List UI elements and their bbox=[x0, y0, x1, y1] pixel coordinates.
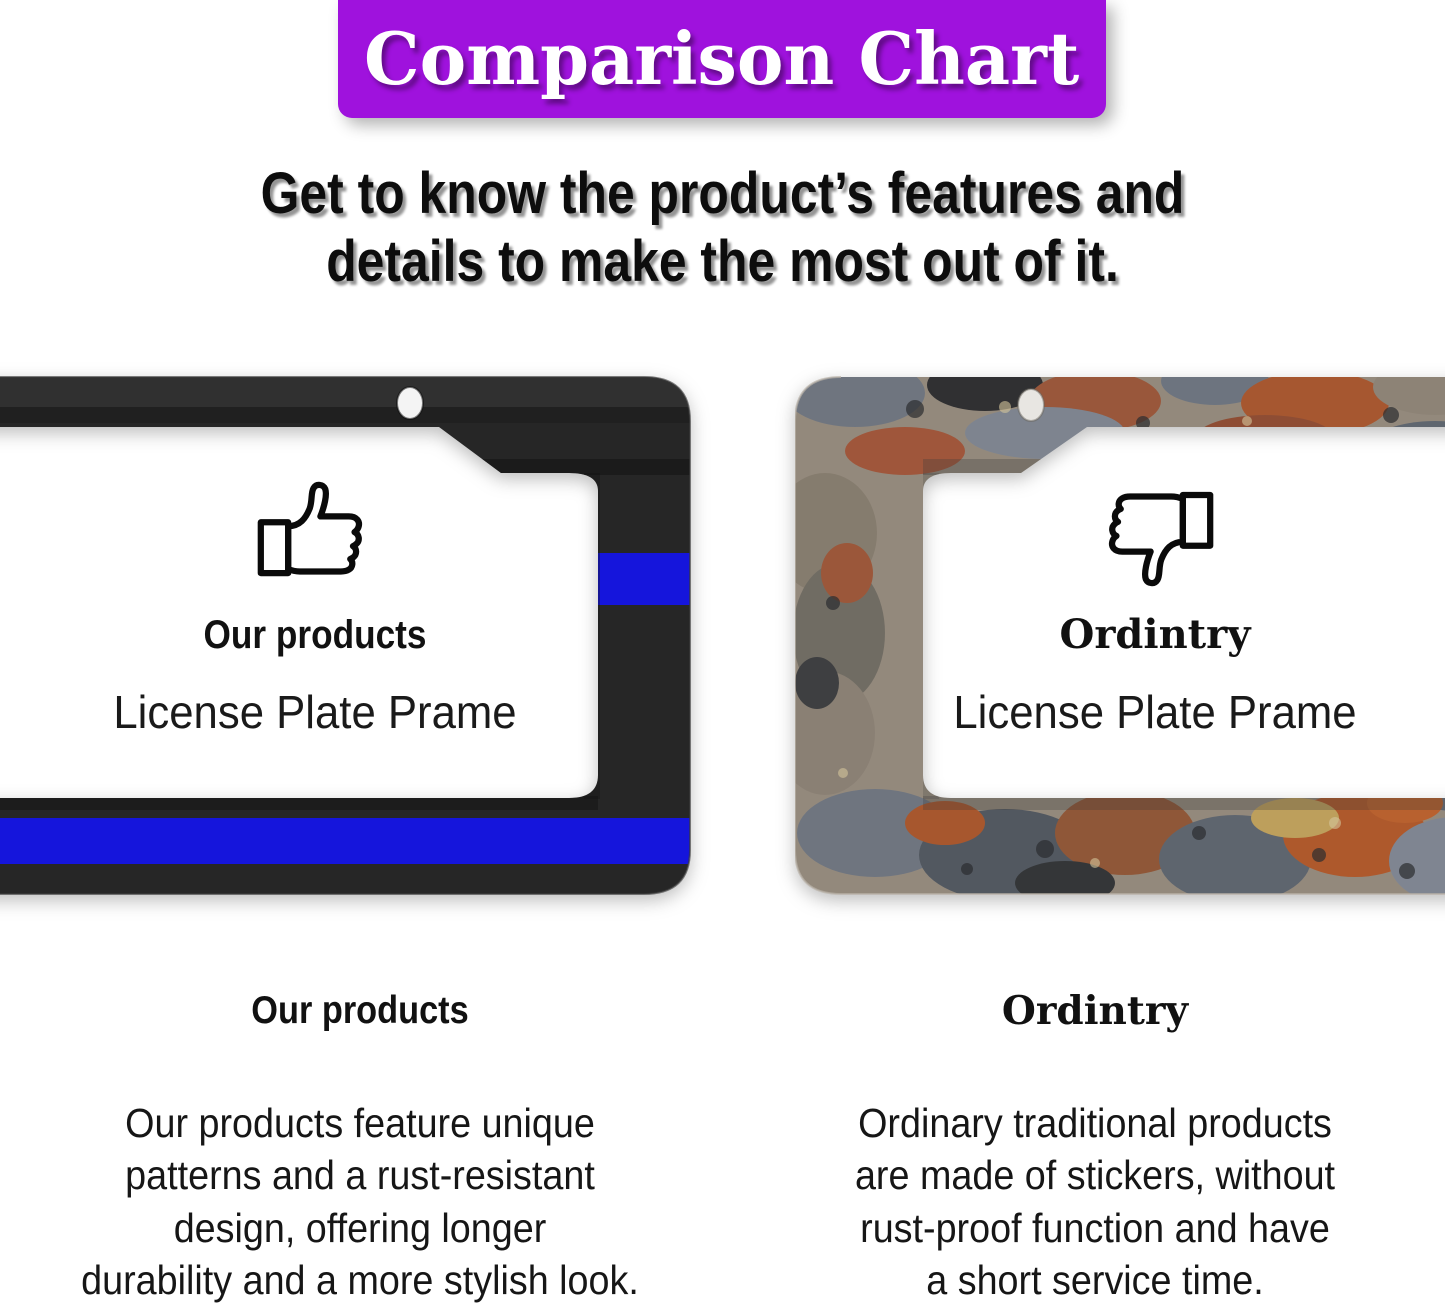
blue-stripe-bottom bbox=[0, 818, 692, 864]
description-line: rust-proof function and have bbox=[773, 1202, 1417, 1254]
frame-body bbox=[0, 363, 692, 908]
page-title: Comparison Chart bbox=[364, 23, 1079, 95]
subtitle-line-2: details to make the most out of it. bbox=[101, 228, 1344, 296]
description-heading-ordintry: Ordintry bbox=[745, 990, 1445, 1033]
license-plate-frame-black bbox=[0, 363, 692, 908]
description-line: Our products feature unique bbox=[38, 1097, 682, 1149]
blue-stripe-side bbox=[598, 553, 692, 605]
subtitle: Get to know the product’s features and d… bbox=[101, 160, 1344, 297]
description-line: a short service time. bbox=[773, 1254, 1417, 1306]
product-image-our-products bbox=[0, 363, 692, 908]
description-body-ordintry: Ordinary traditional products are made o… bbox=[773, 1097, 1417, 1307]
description-row: Our products Our products feature unique… bbox=[0, 990, 1445, 1314]
subtitle-line-1: Get to know the product’s features and bbox=[101, 160, 1344, 228]
description-body-our-products: Our products feature unique patterns and… bbox=[38, 1097, 682, 1307]
frame-body bbox=[795, 363, 1445, 908]
header: Comparison Chart Get to know the product… bbox=[0, 0, 1445, 300]
license-plate-frame-rusted bbox=[795, 363, 1445, 908]
description-line: durability and a more stylish look. bbox=[38, 1254, 682, 1306]
description-line: design, offering longer bbox=[38, 1202, 682, 1254]
description-column-ordintry: Ordintry Ordinary traditional products a… bbox=[745, 990, 1445, 1307]
product-image-ordintry bbox=[795, 363, 1445, 908]
comparison-frames-row: Our products License Plate Prame Ordintr… bbox=[0, 363, 1445, 908]
description-heading-our-products: Our products bbox=[52, 990, 668, 1033]
description-line: patterns and a rust-resistant bbox=[38, 1149, 682, 1201]
description-line: Ordinary traditional products bbox=[773, 1097, 1417, 1149]
description-column-our-products: Our products Our products feature unique… bbox=[10, 990, 710, 1307]
description-line: are made of stickers, without bbox=[773, 1149, 1417, 1201]
title-banner: Comparison Chart bbox=[338, 0, 1106, 118]
